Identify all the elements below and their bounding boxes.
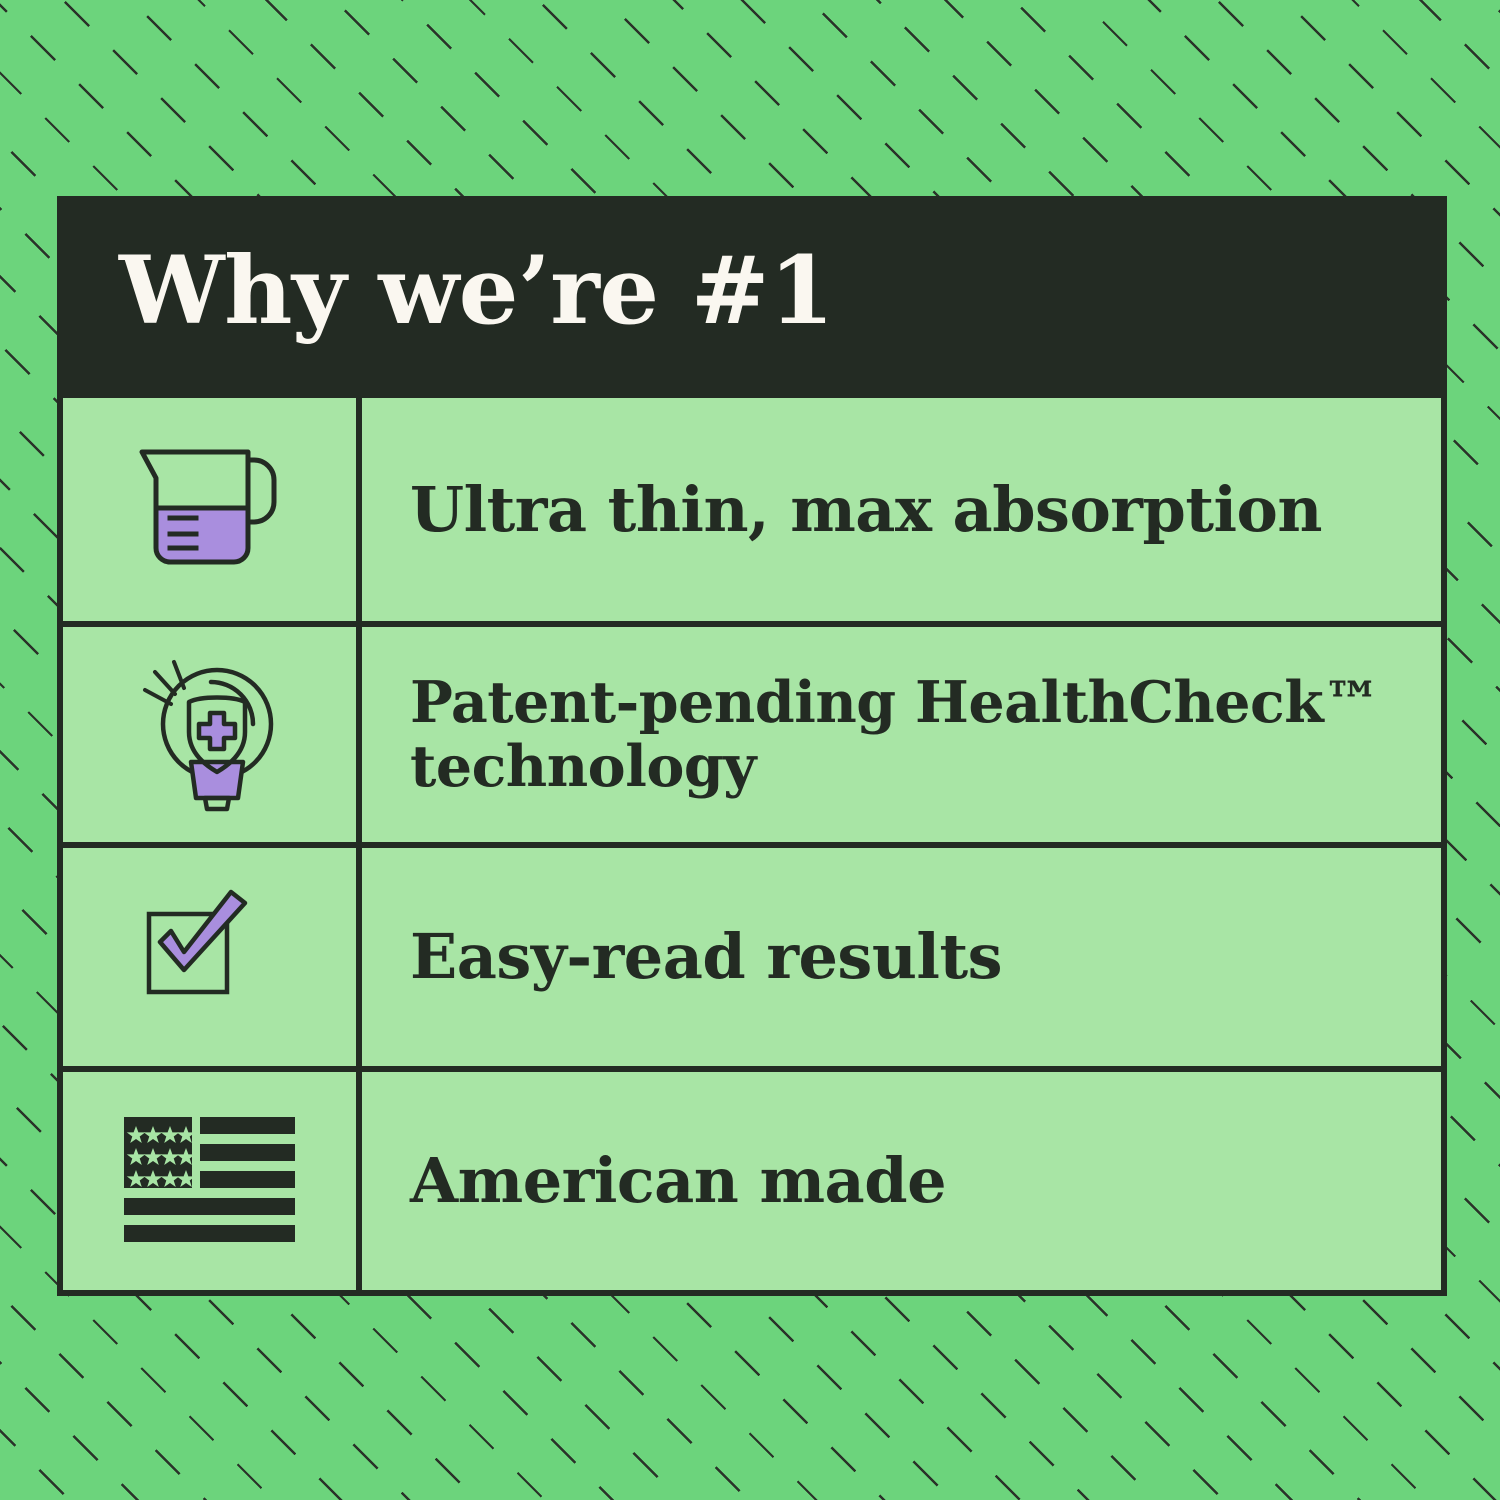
feature-label: American made <box>410 1146 946 1215</box>
table-row: Easy-read results <box>63 848 1441 1072</box>
feature-label: Ultra thin, max absorption <box>410 475 1322 544</box>
feature-icon-cell <box>63 398 362 621</box>
american-flag-icon <box>122 1115 297 1247</box>
feature-label: Easy-read results <box>410 922 1002 991</box>
card-header: Why we’re #1 <box>57 196 1447 398</box>
feature-text-cell: American made <box>362 1072 1441 1291</box>
feature-icon-cell <box>63 848 362 1066</box>
feature-text-cell: Ultra thin, max absorption <box>362 398 1441 621</box>
features-table: Ultra thin, max absorption <box>57 398 1447 1296</box>
lightbulb-shield-icon <box>127 652 292 817</box>
feature-icon-cell <box>63 627 362 842</box>
checkbox-check-icon <box>127 874 292 1039</box>
page-root: Why we’re #1 <box>0 0 1500 1500</box>
feature-label: Patent-pending HealthCheck™ technology <box>410 671 1421 799</box>
table-row: Patent-pending HealthCheck™ technology <box>63 627 1441 848</box>
table-row: American made <box>63 1072 1441 1291</box>
table-row: Ultra thin, max absorption <box>63 398 1441 627</box>
page-title: Why we’re #1 <box>119 244 834 338</box>
feature-text-cell: Patent-pending HealthCheck™ technology <box>362 627 1441 842</box>
measuring-cup-icon <box>130 430 290 590</box>
feature-text-cell: Easy-read results <box>362 848 1441 1066</box>
feature-icon-cell <box>63 1072 362 1291</box>
why-we-are-number-one-card: Why we’re #1 <box>57 196 1447 1296</box>
